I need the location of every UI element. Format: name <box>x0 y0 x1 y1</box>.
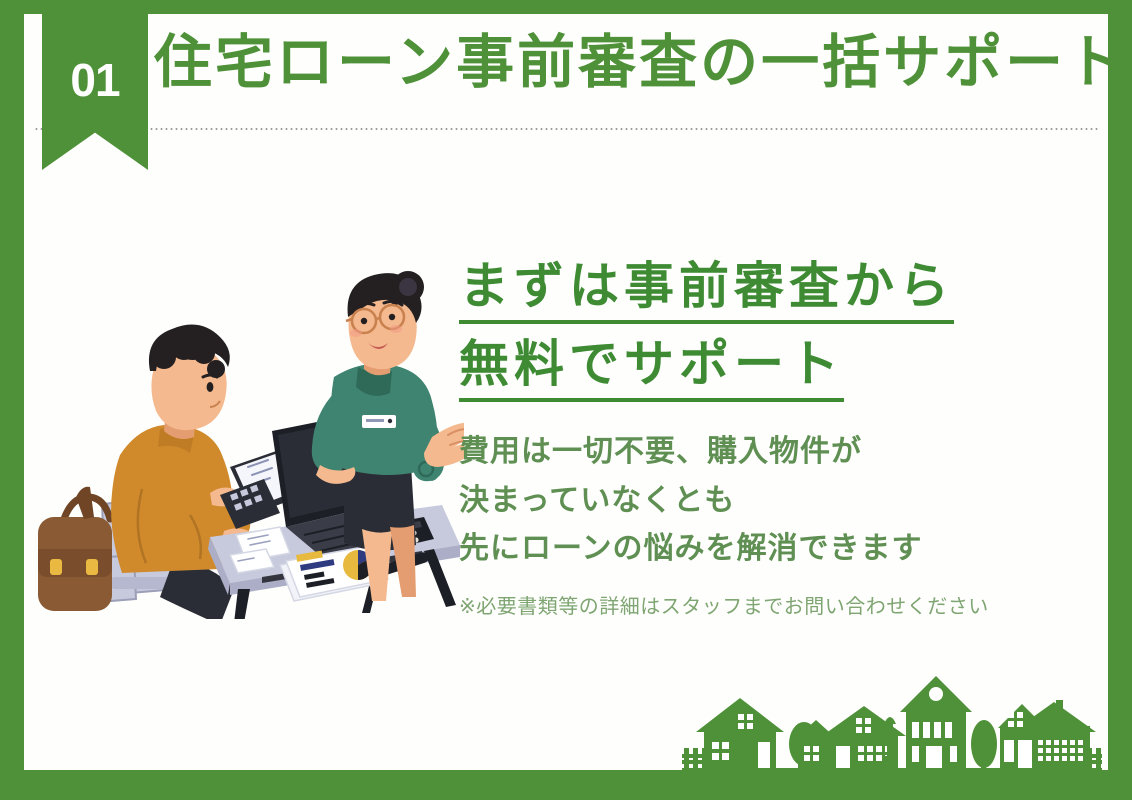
frame-edge-bottom <box>0 770 1132 800</box>
slide-canvas: 01 住宅ローン事前審査の一括サポート <box>24 14 1108 770</box>
body-line-2: 決まっていなくとも <box>459 477 1099 526</box>
frame-edge-left <box>0 0 24 800</box>
page-title: 住宅ローン事前審査の一括サポート <box>154 30 1094 97</box>
fence-right <box>1086 748 1102 768</box>
copy-block: まずは事前審査から 無料でサポート 費用は一切不要、購入物件が 決まっていなくと… <box>459 254 1099 619</box>
house-small <box>696 698 784 768</box>
backpack-shape <box>38 487 112 611</box>
headline: まずは事前審査から 無料でサポート <box>459 254 1099 402</box>
house-wide <box>998 700 1096 768</box>
tree-right <box>971 720 997 770</box>
frame-edge-top <box>0 0 1132 14</box>
body-line-1: 費用は一切不要、購入物件が <box>459 428 1099 477</box>
footnote: ※必要書類等の詳細はスタッフまでお問い合わせください <box>459 590 1099 619</box>
body-line-3: 先にローンの悩みを解消できます <box>459 525 1099 574</box>
headline-line-2: 無料でサポート <box>459 332 844 402</box>
section-number-ribbon: 01 <box>42 14 148 170</box>
slide-root: 01 住宅ローン事前審査の一括サポート <box>0 0 1132 800</box>
body-copy: 費用は一切不要、購入物件が 決まっていなくとも 先にローンの悩みを解消できます <box>459 428 1099 574</box>
section-number: 01 <box>70 53 119 107</box>
header-dotted-rule <box>34 128 1098 130</box>
townscape-silhouette <box>682 662 1102 770</box>
consultation-illustration <box>24 259 464 619</box>
house-tall <box>900 676 972 768</box>
headline-line-1: まずは事前審査から <box>459 254 954 324</box>
frame-edge-right <box>1108 0 1132 800</box>
